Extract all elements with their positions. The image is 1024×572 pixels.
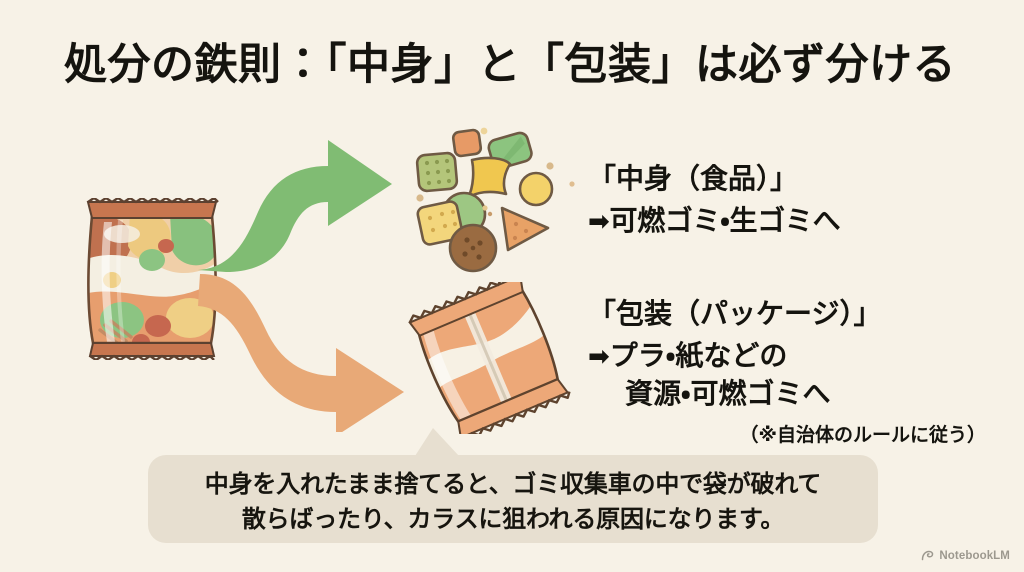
- package-branch-destination-line1: ➡プラ・紙などの: [588, 338, 881, 375]
- page-title: 処分の鉄則：「中身」と「包装」は必ず分ける: [64, 40, 964, 92]
- watermark-label: NotebookLM: [939, 550, 1010, 562]
- slide-canvas: 処分の鉄則：「中身」と「包装」は必ず分ける: [0, 0, 1024, 572]
- warning-line-1: 中身を入れたまま捨てると、ゴミ収集車の中で袋が破れて: [148, 468, 878, 503]
- empty-wrapper-illustration: [404, 282, 576, 434]
- food-branch-destination: 可燃ゴミ・生ゴミへ: [610, 205, 841, 236]
- green-flow-arrow: [196, 132, 416, 272]
- orange-flow-arrow: [196, 272, 426, 432]
- warning-callout-text: 中身を入れたまま捨てると、ゴミ収集車の中で袋が破れて 散らばったり、カラスに狙わ…: [148, 468, 878, 538]
- package-branch-heading: 「包装（パッケージ）」: [588, 296, 881, 333]
- right-arrow-icon: ➡: [588, 207, 610, 237]
- notebooklm-watermark: NotebookLM: [921, 549, 1010, 562]
- food-branch-heading: 「中身（食品）」: [588, 161, 840, 198]
- municipality-rule-note: （※自治体のルールに従う）: [588, 420, 986, 447]
- notebooklm-logo-icon: [921, 549, 934, 562]
- right-arrow-icon: ➡: [588, 342, 610, 372]
- package-branch-label: 「包装（パッケージ）」 ➡プラ・紙などの 資源・可燃ゴミへ: [588, 296, 881, 413]
- warning-line-2: 散らばったり、カラスに狙われる原因になります。: [148, 503, 878, 538]
- callout-tail: [415, 428, 459, 456]
- food-branch-destination-line: ➡可燃ゴミ・生ゴミへ: [588, 203, 840, 240]
- package-branch-destination-text1: プラ・紙などの: [610, 340, 788, 371]
- snack-pieces-illustration: [412, 126, 582, 278]
- food-branch-label: 「中身（食品）」 ➡可燃ゴミ・生ゴミへ: [588, 161, 840, 240]
- package-branch-destination-line2: 資源・可燃ゴミへ: [588, 376, 881, 413]
